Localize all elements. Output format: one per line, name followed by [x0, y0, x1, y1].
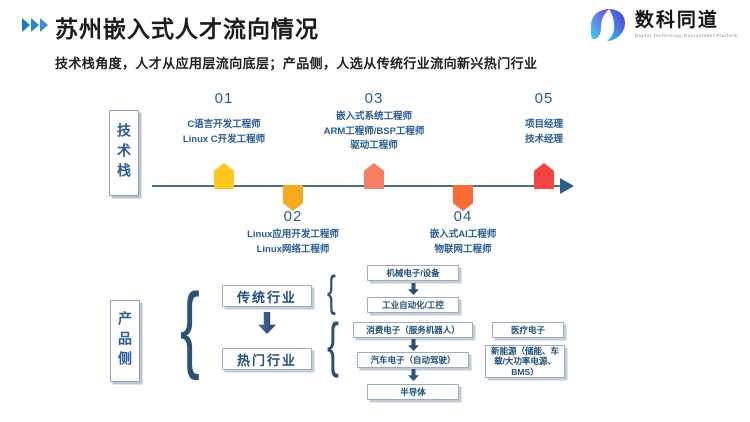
box-industrial-automation: 工业自动化/工控	[367, 297, 459, 313]
box-hot-industry: 热门行业	[222, 348, 312, 370]
timeline-roles-03: 嵌入式系统工程师 ARM工程师/BSP工程师 驱动工程师	[296, 110, 452, 154]
role-item: 嵌入式系统工程师	[296, 110, 452, 125]
timeline-number-02: 02	[257, 208, 329, 225]
down-arrow-icon	[258, 312, 276, 334]
timeline-roles-04: 嵌入式AI工程师 物联网工程师	[403, 228, 523, 257]
timeline-number-01: 01	[188, 90, 260, 107]
box-automotive-electronics: 汽车电子（自动驾驶）	[357, 352, 469, 368]
box-traditional-industry: 传统行业	[222, 285, 312, 307]
role-item: 技术经理	[492, 133, 596, 148]
role-item: Linux网络工程师	[221, 243, 365, 258]
timeline-marker-03	[364, 163, 384, 189]
box-machinery: 机械电子/设备	[367, 265, 459, 281]
tech-stack-label: 技术栈	[117, 123, 131, 183]
down-arrow-icon	[408, 339, 419, 351]
brand-tagline: Digital Technology Recruitment Platform	[635, 34, 738, 39]
role-item: 项目经理	[492, 118, 596, 133]
brand-name: 数科同道	[635, 11, 738, 30]
timeline-axis	[152, 185, 560, 187]
timeline-number-04: 04	[427, 208, 499, 225]
page-title: 苏州嵌入式人才流向情况	[55, 10, 319, 44]
timeline-arrow-icon	[560, 178, 574, 194]
brand-logo: 数科同道 Digital Technology Recruitment Plat…	[588, 6, 738, 44]
brace-product-side: {	[180, 280, 200, 376]
timeline-roles-02: Linux应用开发工程师 Linux网络工程师	[221, 228, 365, 257]
box-medical-electronics: 医疗电子	[492, 322, 564, 338]
box-new-energy: 新能源（储能、车载/大功率电源、BMS）	[485, 345, 565, 378]
slide-canvas: 苏州嵌入式人才流向情况 技术栈角度，人才从应用层流向底层；产品侧，人选从传统行业…	[0, 0, 750, 422]
timeline-marker-01	[214, 163, 234, 189]
role-item: 物联网工程师	[403, 243, 523, 258]
brace-traditional-items: {	[327, 270, 336, 314]
box-consumer-electronics: 消费电子（服务机器人）	[353, 322, 473, 338]
product-side-label: 产品侧	[118, 311, 132, 371]
brace-hot-items: {	[327, 315, 339, 375]
page-subtitle: 技术栈角度，人才从应用层流向底层；产品侧，人选从传统行业流向新兴热门行业	[55, 53, 537, 72]
product-side-label-box: 产品侧	[110, 300, 140, 382]
timeline-marker-05	[534, 163, 554, 189]
role-item: C语言开发工程师	[162, 118, 286, 133]
tech-stack-label-box: 技术栈	[109, 110, 139, 196]
timeline-number-03: 03	[338, 90, 410, 107]
down-arrow-icon	[408, 369, 419, 381]
timeline-roles-01: C语言开发工程师 Linux C开发工程师	[162, 118, 286, 147]
role-item: 驱动工程师	[296, 139, 452, 154]
chevrons-right-icon	[22, 18, 48, 32]
box-semiconductor: 半导体	[367, 384, 459, 400]
down-arrow-icon	[408, 283, 419, 295]
timeline-roles-05: 项目经理 技术经理	[492, 118, 596, 147]
role-item: ARM工程师/BSP工程师	[296, 125, 452, 140]
role-item: Linux C开发工程师	[162, 133, 286, 148]
role-item: Linux应用开发工程师	[221, 228, 365, 243]
timeline-number-05: 05	[508, 90, 580, 107]
role-item: 嵌入式AI工程师	[403, 228, 523, 243]
brand-swirl-icon	[588, 6, 628, 44]
